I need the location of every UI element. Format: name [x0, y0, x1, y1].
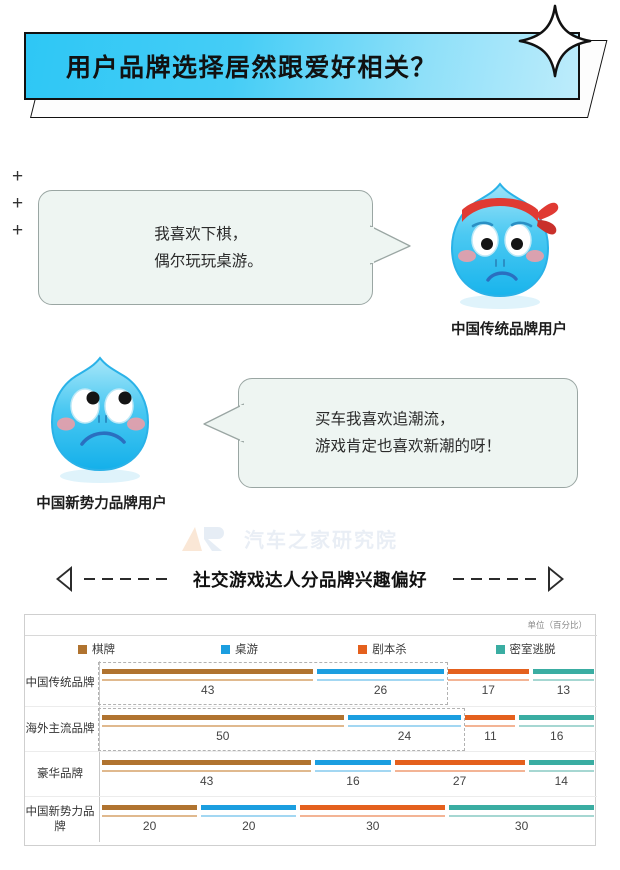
chart-value-label: 30: [447, 819, 596, 833]
chart-bar-fill: [519, 715, 594, 720]
dash-run-right: [453, 578, 536, 580]
chart-bar-segment[interactable]: 16: [517, 707, 596, 752]
legend-item-0[interactable]: 棋牌: [25, 636, 168, 662]
chart-bar-underline: [102, 770, 311, 772]
chart-legend: 棋牌桌游剧本杀密室逃脱: [25, 635, 597, 662]
chart-value-label: 16: [517, 729, 596, 743]
chart-bar-fill: [448, 669, 529, 674]
chart-value-label: 26: [315, 683, 445, 697]
chart-row-label: 豪华品牌: [25, 752, 95, 797]
speech-tail-left-icon: [200, 398, 244, 450]
legend-label: 剧本杀: [372, 641, 407, 657]
triangle-right-icon: [548, 566, 564, 592]
plus-icon: +: [12, 170, 23, 183]
chart-bar-segment[interactable]: 16: [313, 752, 392, 797]
legend-item-3[interactable]: 密室逃脱: [454, 636, 597, 662]
chart-row-label: 中国传统品牌: [25, 661, 95, 706]
chart-bar-segment[interactable]: 20: [100, 797, 199, 842]
legend-item-1[interactable]: 桌游: [168, 636, 311, 662]
chart-unit-label: 单位（百分比）: [527, 619, 587, 631]
chart-value-label: 27: [393, 774, 527, 788]
chart-bar-segment[interactable]: 43: [100, 752, 313, 797]
chart-bar-underline: [448, 679, 529, 681]
chart-value-label: 24: [346, 729, 464, 743]
chart-bar-fill: [348, 715, 462, 720]
header-banner-area: 用户品牌选择居然跟爱好相关？: [0, 0, 620, 150]
chart-bar-fill: [102, 805, 197, 810]
chart-bar-fill: [317, 669, 443, 674]
chart-value-label: 13: [531, 683, 596, 697]
chart-bar-segment[interactable]: 26: [315, 661, 445, 706]
chart-value-label: 43: [100, 774, 313, 788]
chart-value-label: 20: [199, 819, 298, 833]
speech-bubble-traditional: 我喜欢下棋， 偶尔玩玩桌游。: [38, 190, 373, 305]
chart-bar-underline: [315, 770, 390, 772]
chart-bar-segment[interactable]: 20: [199, 797, 298, 842]
dash-run-left: [84, 578, 167, 580]
chart-bar-underline: [317, 679, 443, 681]
plus-icon: +: [12, 197, 23, 210]
chart-bar-underline: [533, 679, 594, 681]
avatar-new-force-brand-user: [40, 350, 160, 480]
chart-bar-underline: [102, 725, 344, 727]
chart-bar-fill: [529, 760, 594, 765]
chart-bar-fill: [395, 760, 525, 765]
plus-icon: +: [12, 224, 23, 237]
chart-value-label: 16: [313, 774, 392, 788]
chart-row: 海外主流品牌50241116: [25, 706, 597, 751]
chart-bar-underline: [465, 725, 515, 727]
chart-bar-fill: [465, 715, 515, 720]
chart-panel: 单位（百分比） 棋牌桌游剧本杀密室逃脱 中国传统品牌43261713海外主流品牌…: [24, 614, 596, 846]
chart-value-label: 11: [463, 729, 517, 743]
chart-bar-fill: [449, 805, 594, 810]
chart-bar-segment[interactable]: 14: [527, 752, 596, 797]
chart-bar-segment[interactable]: 43: [100, 661, 315, 706]
triangle-left-icon: [56, 566, 72, 592]
chart-plot-area: 中国传统品牌43261713海外主流品牌50241116豪华品牌43162714…: [25, 661, 597, 846]
chart-bar-segment[interactable]: 17: [446, 661, 531, 706]
chart-bar-fill: [201, 805, 296, 810]
chart-bar-fill: [102, 669, 313, 674]
banner-main: 用户品牌选择居然跟爱好相关？: [24, 32, 580, 100]
legend-swatch-icon: [496, 645, 505, 654]
avatar-label-new-force-brand-user: 中国新势力品牌用户: [14, 492, 189, 513]
chart-bar-underline: [102, 815, 197, 817]
chart-bars-track: 43162714: [100, 752, 596, 797]
chart-bars-track: 20203030: [100, 797, 596, 842]
chart-bar-underline: [395, 770, 525, 772]
plus-decoration-group: + + +: [12, 170, 23, 237]
chart-bar-underline: [102, 679, 313, 681]
legend-label: 桌游: [235, 641, 258, 657]
chart-bar-fill: [533, 669, 594, 674]
chart-bars-track: 50241116: [100, 707, 596, 752]
watermark: 汽车之家研究院: [178, 518, 438, 558]
chart-title: 社交游戏达人分品牌兴趣偏好: [193, 567, 427, 592]
chart-value-label: 43: [100, 683, 315, 697]
chart-bar-segment[interactable]: 11: [463, 707, 517, 752]
speech-bubble-new-force: 买车我喜欢追潮流， 游戏肯定也喜欢新潮的呀！: [238, 378, 578, 488]
chart-row: 中国传统品牌43261713: [25, 661, 597, 706]
chart-value-label: 30: [298, 819, 447, 833]
ar-logo-icon: [178, 523, 234, 553]
legend-item-2[interactable]: 剧本杀: [311, 636, 454, 662]
chart-bar-fill: [315, 760, 390, 765]
chart-row-label: 中国新势力品牌: [25, 797, 95, 842]
page-title: 用户品牌选择居然跟爱好相关？: [66, 48, 437, 84]
chart-bar-underline: [348, 725, 462, 727]
legend-swatch-icon: [78, 645, 87, 654]
avatar-label-traditional-brand-user: 中国传统品牌用户: [424, 318, 594, 339]
avatar-traditional-brand-user: [440, 176, 560, 306]
speech-tail-right-icon: [370, 220, 412, 270]
speech-bubble-text: 我喜欢下棋， 偶尔玩玩桌游。: [148, 221, 263, 275]
watermark-text: 汽车之家研究院: [244, 524, 398, 553]
speech-bubble-text: 买车我喜欢追潮流， 游戏肯定也喜欢新潮的呀！: [315, 406, 501, 460]
chart-value-label: 17: [446, 683, 531, 697]
chart-bar-segment[interactable]: 27: [393, 752, 527, 797]
chart-title-row: 社交游戏达人分品牌兴趣偏好: [0, 560, 620, 598]
chart-value-label: 14: [527, 774, 596, 788]
chart-bar-underline: [529, 770, 594, 772]
chart-bar-underline: [201, 815, 296, 817]
chart-bar-segment[interactable]: 13: [531, 661, 596, 706]
chart-bar-fill: [102, 715, 344, 720]
legend-label: 棋牌: [92, 641, 115, 657]
chart-bar-fill: [102, 760, 311, 765]
chart-bar-underline: [300, 815, 445, 817]
chart-row: 中国新势力品牌20203030: [25, 796, 597, 841]
chart-row: 豪华品牌43162714: [25, 751, 597, 796]
legend-swatch-icon: [221, 645, 230, 654]
chart-row-label: 海外主流品牌: [25, 707, 95, 752]
chart-value-label: 50: [100, 729, 346, 743]
chart-bar-underline: [519, 725, 594, 727]
chart-bar-underline: [449, 815, 594, 817]
chart-bar-fill: [300, 805, 445, 810]
chart-bar-segment[interactable]: 24: [346, 707, 464, 752]
chart-bar-segment[interactable]: 30: [447, 797, 596, 842]
legend-swatch-icon: [358, 645, 367, 654]
chart-bars-track: 43261713: [100, 661, 596, 706]
chart-value-label: 20: [100, 819, 199, 833]
chart-bar-segment[interactable]: 50: [100, 707, 346, 752]
chart-bar-segment[interactable]: 30: [298, 797, 447, 842]
legend-label: 密室逃脱: [510, 641, 556, 657]
